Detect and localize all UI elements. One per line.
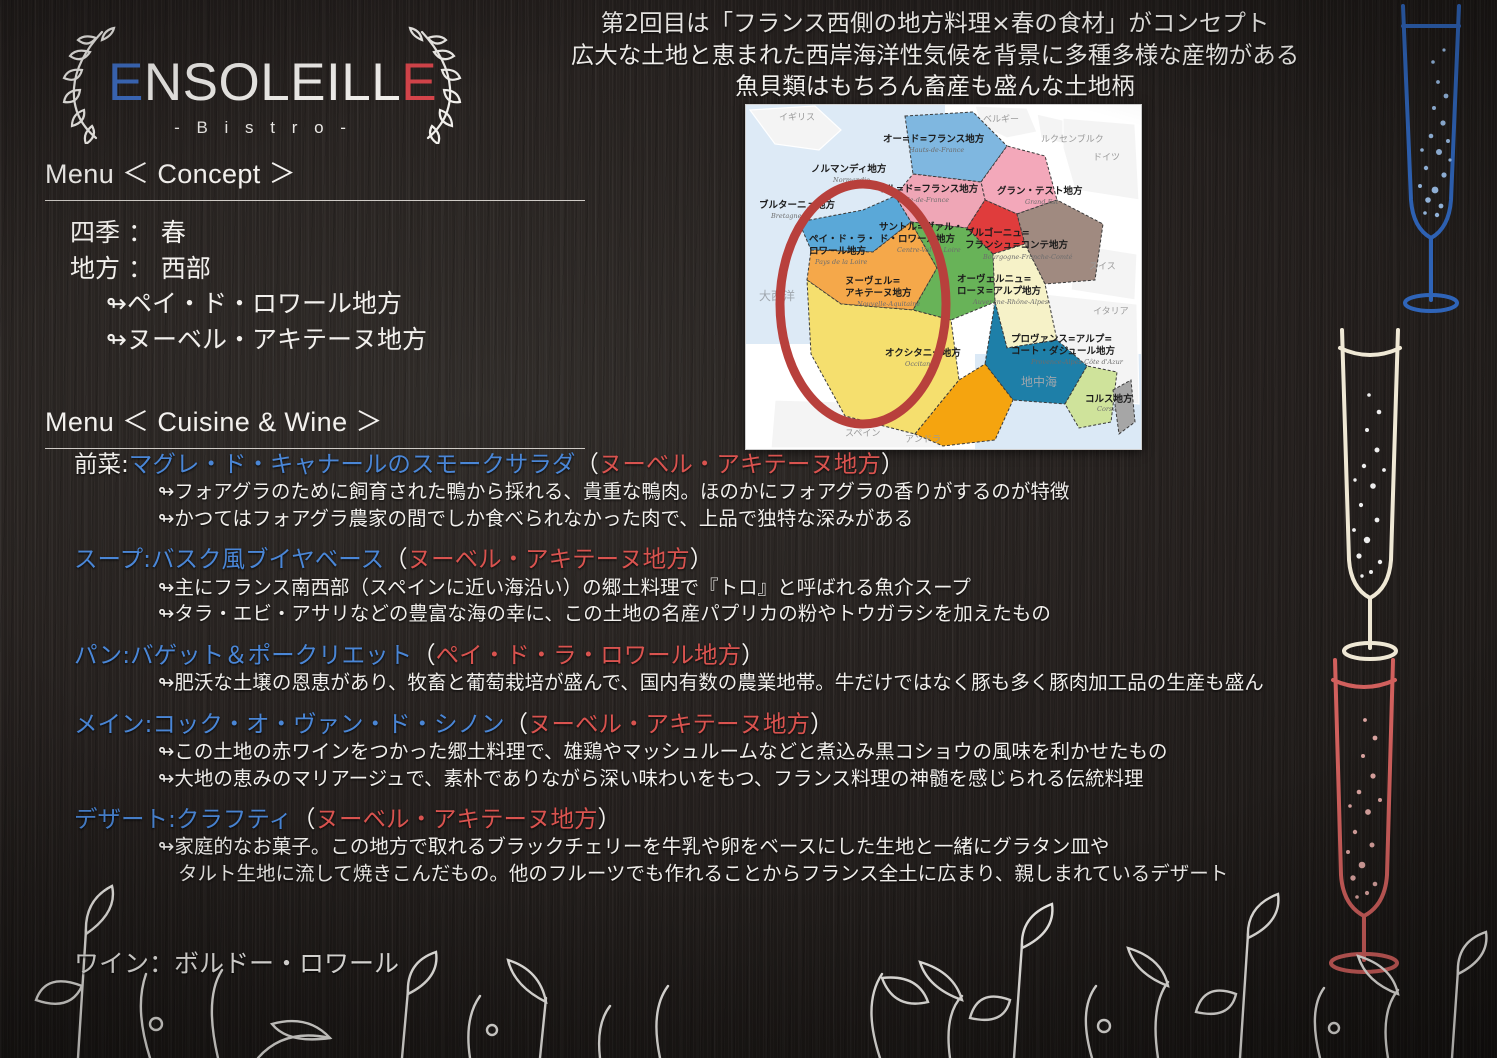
vignette-overlay <box>0 0 1497 1058</box>
